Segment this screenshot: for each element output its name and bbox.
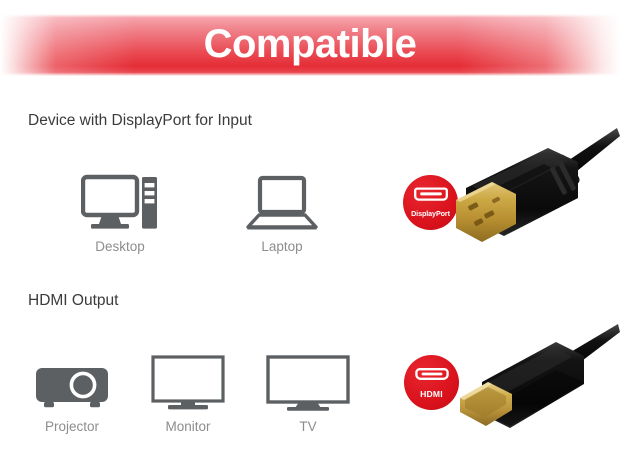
- tv-icon: [248, 342, 368, 412]
- page-title: Compatible: [0, 14, 620, 76]
- device-label-projector: Projector: [12, 419, 132, 434]
- displayport-badge-label: DisplayPort: [411, 210, 450, 217]
- section-heading-hdmi: HDMI Output: [28, 292, 118, 310]
- header-banner: Compatible: [0, 14, 620, 76]
- laptop-icon: [222, 162, 342, 232]
- hdmi-connector-icon: [452, 324, 620, 451]
- device-label-desktop: Desktop: [60, 239, 180, 254]
- displayport-port-icon: [414, 187, 448, 207]
- desktop-icon: [60, 162, 180, 232]
- device-item-tv: TV: [248, 342, 368, 434]
- hdmi-badge-label: HDMI: [420, 390, 443, 399]
- device-label-monitor: Monitor: [128, 419, 248, 434]
- device-item-laptop: Laptop: [222, 162, 342, 254]
- device-item-projector: Projector: [12, 342, 132, 434]
- section-heading-displayport: Device with DisplayPort for Input: [28, 112, 252, 130]
- device-item-desktop: Desktop: [60, 162, 180, 254]
- displayport-badge: DisplayPort: [403, 175, 458, 230]
- hdmi-port-icon: [415, 367, 449, 387]
- device-label-laptop: Laptop: [222, 239, 342, 254]
- projector-icon: [12, 342, 132, 412]
- device-item-monitor: Monitor: [128, 342, 248, 434]
- displayport-connector-icon: [452, 126, 620, 255]
- hdmi-badge: HDMI: [404, 355, 459, 410]
- device-label-tv: TV: [248, 419, 368, 434]
- monitor-icon: [128, 342, 248, 412]
